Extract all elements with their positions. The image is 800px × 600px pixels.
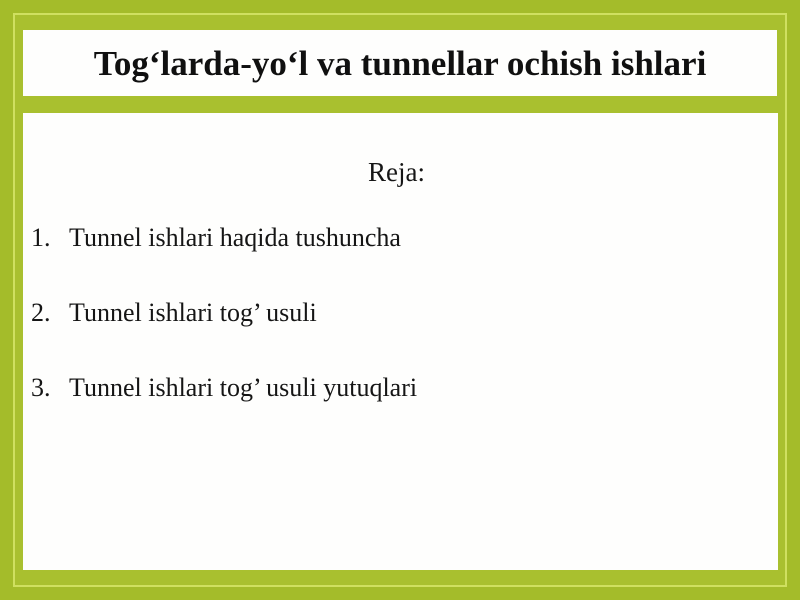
list-item-number: 3. (23, 375, 69, 401)
slide-title: Togʻlarda-yoʻl va tunnellar ochish ishla… (94, 46, 707, 81)
slide-title-box: Togʻlarda-yoʻl va tunnellar ochish ishla… (23, 30, 777, 96)
list-item: 2. Tunnel ishlari tog’ usuli (23, 300, 778, 375)
list-item-label: Tunnel ishlari tog’ usuli (69, 300, 778, 326)
list-item-number: 1. (23, 225, 69, 251)
list-item: 3. Tunnel ishlari tog’ usuli yutuqlari (23, 375, 778, 450)
list-item: 1. Tunnel ishlari haqida tushuncha (23, 225, 778, 300)
slide-body-box: Reja: 1. Tunnel ishlari haqida tushuncha… (23, 113, 778, 570)
list-item-number: 2. (23, 300, 69, 326)
plan-list: 1. Tunnel ishlari haqida tushuncha 2. Tu… (23, 225, 778, 450)
list-item-label: Tunnel ishlari tog’ usuli yutuqlari (69, 375, 778, 401)
presentation-slide: Togʻlarda-yoʻl va tunnellar ochish ishla… (0, 0, 800, 600)
list-item-label: Tunnel ishlari haqida tushuncha (69, 225, 778, 251)
plan-heading: Reja: (23, 159, 778, 186)
